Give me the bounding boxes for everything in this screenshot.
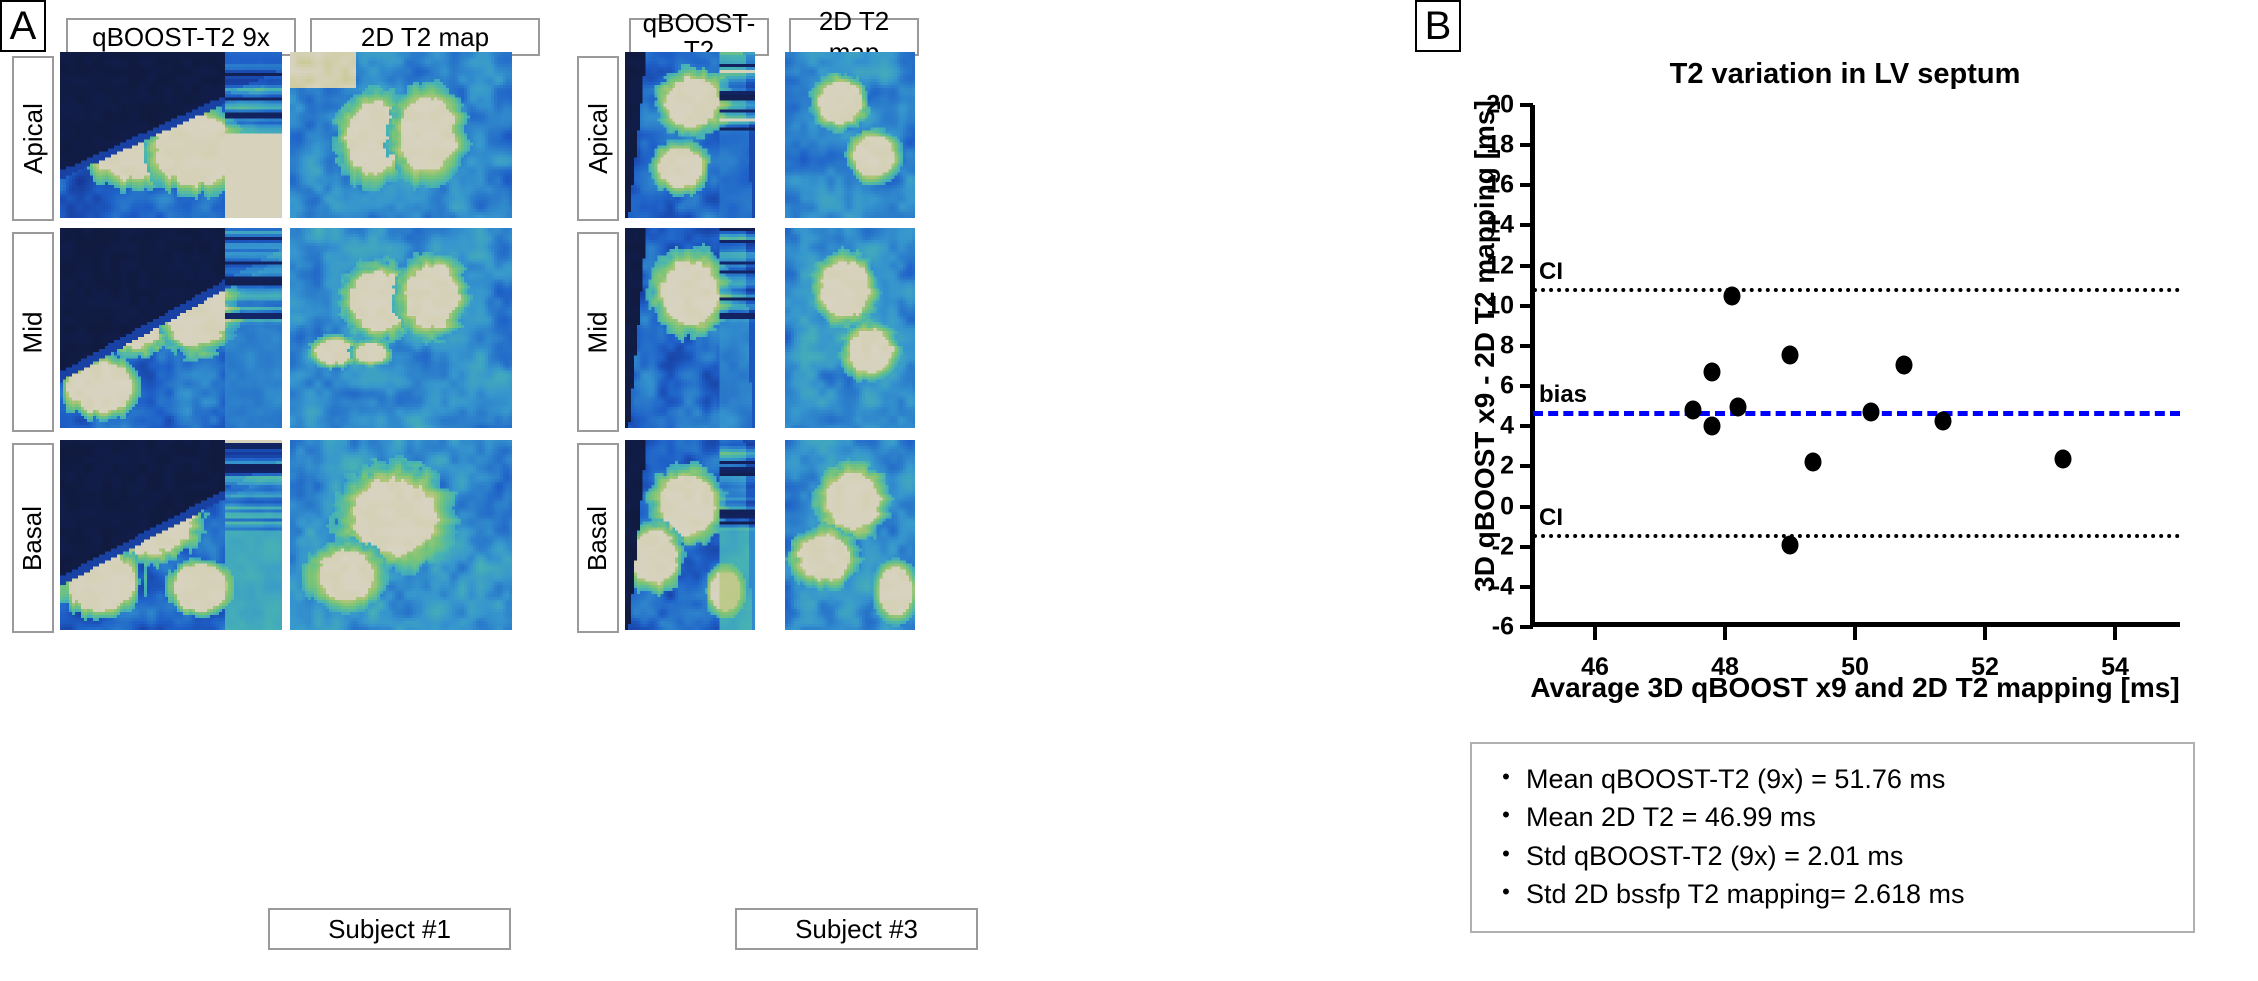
y-tick xyxy=(1520,264,1533,268)
mri-subject3-mid-2dt2 xyxy=(785,228,915,428)
y-tick xyxy=(1520,344,1533,348)
data-point xyxy=(1704,363,1721,382)
statistic-row: •Mean 2D T2 = 46.99 ms xyxy=(1486,798,2179,836)
row-label-basal-subject1-text: Basal xyxy=(18,505,49,570)
y-tick xyxy=(1520,183,1533,187)
y-tick-label: 6 xyxy=(1500,372,1514,401)
mri-subject1-apical-2dt2 xyxy=(290,52,512,218)
panel-a: A qBOOST-T2 9x 2D T2 map qBOOST-T2 9x 2D… xyxy=(0,0,1400,981)
mri-subject3-basal-qboost xyxy=(625,440,755,630)
data-point xyxy=(1730,398,1747,417)
y-axis-label: 3D qBOOST x9 - 2D T2 mapping [ms] xyxy=(1469,66,1501,626)
data-point xyxy=(1704,417,1721,436)
chart-title: T2 variation in LV septum xyxy=(1475,58,2215,91)
x-tick xyxy=(1723,626,1727,640)
y-tick xyxy=(1520,223,1533,227)
bland-altman-plot: -6-4-202468101214161820 4648505254 CIbia… xyxy=(1530,105,2180,650)
mri-subject3-apical-qboost xyxy=(625,52,755,218)
row-label-basal-subject3-text: Basal xyxy=(583,505,614,570)
statistic-text: Mean 2D T2 = 46.99 ms xyxy=(1526,798,1816,836)
row-label-apical-subject3-text: Apical xyxy=(583,103,614,174)
statistic-text: Std 2D bssfp T2 mapping= 2.618 ms xyxy=(1526,875,1965,913)
y-tick xyxy=(1520,384,1533,388)
reference-label-lower-ci: CI xyxy=(1539,504,1563,532)
x-tick xyxy=(1853,626,1857,640)
mri-subject1-basal-2dt2 xyxy=(290,440,512,630)
subject-label-3: Subject #3 xyxy=(735,908,978,950)
bullet-icon: • xyxy=(1486,837,1526,871)
column-header-2dt2-subject1: 2D T2 map xyxy=(310,18,540,56)
y-tick-label: 2 xyxy=(1500,452,1514,481)
y-tick xyxy=(1520,304,1533,308)
data-point xyxy=(2055,450,2072,469)
column-header-2dt2-subject3: 2D T2 map xyxy=(789,18,919,56)
subject-label-1: Subject #1 xyxy=(268,908,511,950)
row-label-mid-subject3: Mid xyxy=(577,232,619,432)
mri-subject1-basal-qboost xyxy=(60,440,282,630)
data-point xyxy=(1934,412,1951,431)
y-tick-label: 0 xyxy=(1500,492,1514,521)
x-tick xyxy=(1593,626,1597,640)
statistic-row: •Mean qBOOST-T2 (9x) = 51.76 ms xyxy=(1486,760,2179,798)
x-tick xyxy=(1983,626,1987,640)
mri-subject3-apical-2dt2 xyxy=(785,52,915,218)
mri-subject1-mid-qboost xyxy=(60,228,282,428)
statistic-text: Std qBOOST-T2 (9x) = 2.01 ms xyxy=(1526,837,1903,875)
y-tick xyxy=(1520,464,1533,468)
reference-label-upper-ci: CI xyxy=(1539,258,1563,286)
statistics-box: •Mean qBOOST-T2 (9x) = 51.76 ms•Mean 2D … xyxy=(1470,742,2195,933)
reference-line-lower-ci xyxy=(1533,534,2180,538)
mri-subject3-basal-2dt2 xyxy=(785,440,915,630)
statistic-row: •Std qBOOST-T2 (9x) = 2.01 ms xyxy=(1486,837,2179,875)
y-tick-label: 8 xyxy=(1500,331,1514,360)
y-tick xyxy=(1520,424,1533,428)
y-tick xyxy=(1520,585,1533,589)
panel-a-letter: A xyxy=(0,0,46,52)
data-point xyxy=(1723,286,1740,305)
row-label-apical-subject1-text: Apical xyxy=(18,103,49,174)
row-label-basal-subject3: Basal xyxy=(577,443,619,633)
data-point xyxy=(1782,345,1799,364)
y-tick xyxy=(1520,545,1533,549)
row-label-apical-subject3: Apical xyxy=(577,56,619,221)
row-label-mid-subject1: Mid xyxy=(12,232,54,432)
reference-line-bias xyxy=(1533,411,2180,416)
reference-line-upper-ci xyxy=(1533,288,2180,292)
statistic-row: •Std 2D bssfp T2 mapping= 2.618 ms xyxy=(1486,875,2179,913)
row-label-apical-subject1: Apical xyxy=(12,56,54,221)
data-point xyxy=(1684,401,1701,420)
x-tick xyxy=(2113,626,2117,640)
y-tick xyxy=(1520,143,1533,147)
data-point xyxy=(1895,355,1912,374)
y-tick xyxy=(1520,625,1533,629)
y-tick-label: 4 xyxy=(1500,412,1514,441)
y-tick xyxy=(1520,103,1533,107)
panel-b: B T2 variation in LV septum -6-4-2024681… xyxy=(1415,0,2258,981)
bullet-icon: • xyxy=(1486,760,1526,794)
row-label-mid-subject1-text: Mid xyxy=(18,311,49,353)
statistic-text: Mean qBOOST-T2 (9x) = 51.76 ms xyxy=(1526,760,1945,798)
mri-subject3-mid-qboost xyxy=(625,228,755,428)
reference-label-bias: bias xyxy=(1539,381,1587,409)
row-label-basal-subject1: Basal xyxy=(12,443,54,633)
column-header-qboost-subject1: qBOOST-T2 9x xyxy=(66,18,296,56)
bullet-icon: • xyxy=(1486,875,1526,909)
y-tick xyxy=(1520,505,1533,509)
mri-subject1-apical-qboost xyxy=(60,52,282,218)
mri-subject1-mid-2dt2 xyxy=(290,228,512,428)
column-header-qboost-subject3: qBOOST-T2 9x xyxy=(629,18,769,56)
panel-b-letter: B xyxy=(1415,0,1461,52)
data-point xyxy=(1782,535,1799,554)
figure-root: A qBOOST-T2 9x 2D T2 map qBOOST-T2 9x 2D… xyxy=(0,0,2258,981)
x-axis-label: Avarage 3D qBOOST x9 and 2D T2 mapping [… xyxy=(1475,672,2235,704)
data-point xyxy=(1804,453,1821,472)
data-point xyxy=(1863,403,1880,422)
row-label-mid-subject3-text: Mid xyxy=(583,311,614,353)
bullet-icon: • xyxy=(1486,798,1526,832)
